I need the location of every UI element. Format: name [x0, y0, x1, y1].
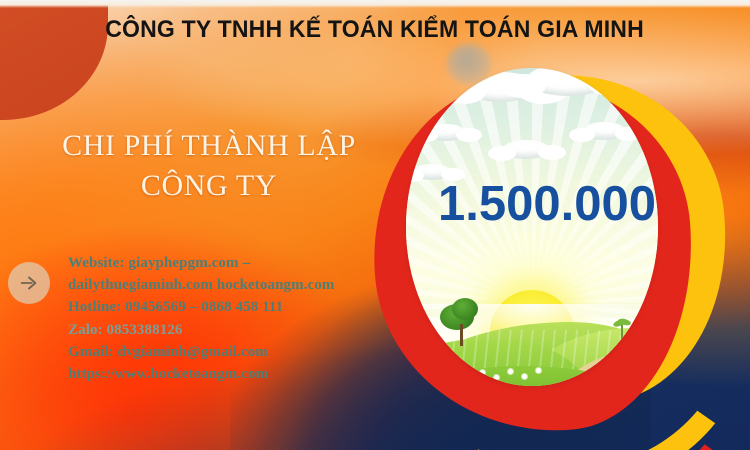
price-artwork: 1.500.000	[368, 62, 728, 450]
tree-trunk	[460, 324, 463, 346]
headline-line-1: CHI PHÍ THÀNH LẬP	[62, 129, 356, 162]
price-display: 1.500.000	[392, 180, 702, 229]
flower-icon	[508, 369, 513, 374]
flower-icon	[466, 377, 471, 382]
contact-url[interactable]: https://www.hocketoangm.com	[68, 363, 413, 385]
flower-icon	[494, 375, 499, 380]
palm-trunk	[621, 323, 623, 344]
company-name-title: CÔNG TY TNHH KẾ TOÁN KIỂM TOÁN GIA MINH	[106, 16, 645, 44]
headline: CHI PHÍ THÀNH LẬP CÔNG TY	[44, 126, 374, 205]
cloud-icon	[582, 122, 626, 140]
flower-icon	[480, 370, 485, 375]
contact-website-line-2: dailythuegiaminh.com hocketoangm.com	[68, 274, 413, 296]
cloud-icon	[526, 68, 610, 96]
contact-gmail: Gmail: dvgiaminh@gmail.com	[68, 341, 413, 363]
poster-canvas: CÔNG TY TNHH KẾ TOÁN KIỂM TOÁN GIA MINH …	[0, 0, 750, 450]
flower-icon	[522, 374, 527, 379]
tree-trunk	[420, 332, 422, 346]
cloud-icon	[502, 140, 550, 159]
flower-icon	[426, 372, 431, 377]
tree-crown	[452, 298, 478, 320]
flower-icon	[536, 368, 541, 373]
flower-cluster	[424, 368, 554, 386]
palm-tree-icon	[614, 318, 630, 344]
contact-hotline: Hotline: 09456569 – 0868 458 111	[68, 296, 413, 318]
flower-icon	[452, 371, 457, 376]
headline-line-2: CÔNG TY	[44, 166, 374, 206]
header-banner: CÔNG TY TNHH KẾ TOÁN KIỂM TOÁN GIA MINH	[0, 6, 750, 54]
price-amount: 1.500.000	[392, 180, 702, 229]
arrow-right-icon[interactable]	[8, 262, 50, 304]
contact-info-block: Website: giayphepgm.com – dailythuegiami…	[68, 252, 413, 385]
flower-icon	[440, 378, 445, 383]
cloud-icon	[426, 124, 466, 141]
contact-website-line-1: Website: giayphepgm.com –	[68, 252, 413, 274]
contact-zalo: Zalo: 0853388126	[68, 319, 413, 341]
